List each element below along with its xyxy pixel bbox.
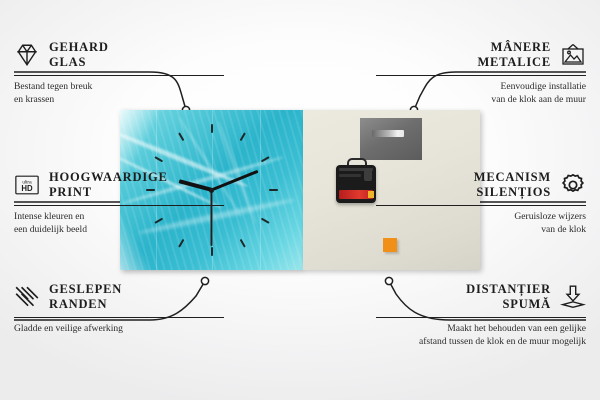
ultra-hd-icon: ultra HD [14, 172, 40, 198]
callout-desc-line2: een duidelijk beeld [14, 224, 87, 235]
callout-hoogwaardige-print: ultra HD HOOGWAARDIGE PRINT Intense kleu… [14, 170, 224, 236]
callout-distantier-spuma: DISTANȚIER SPUMĂ Maakt het behouden van … [376, 282, 586, 348]
callout-title-line1: MECANISM [474, 170, 551, 184]
callout-desc-line1: Eenvoudige installatie [500, 81, 586, 92]
callout-desc-line2: van de klok [541, 224, 586, 235]
callout-desc-line2: van de klok aan de muur [491, 94, 586, 105]
callout-title-line1: GEHARD [49, 40, 109, 54]
callout-mecanism-silentios: MECANISM SILENȚIOS Geruisloze wijzers va… [376, 170, 586, 236]
svg-text:HD: HD [21, 184, 33, 193]
foam-spacer [383, 238, 397, 252]
callout-title-line2: PRINT [49, 185, 92, 199]
callout-title-line1: HOOGWAARDIGE [49, 170, 168, 184]
callout-rule [14, 75, 224, 76]
callout-desc-line1: Intense kleuren en [14, 211, 84, 222]
callout-rule [14, 205, 224, 206]
callout-desc-line1: Bestand tegen breuk [14, 81, 92, 92]
picture-frame-icon [560, 42, 586, 68]
diamond-icon [14, 42, 40, 68]
spacer-arrow-icon [560, 284, 586, 310]
beveled-edges-icon [14, 284, 40, 310]
callout-desc-line1: Geruisloze wijzers [514, 211, 586, 222]
callout-rule [376, 205, 586, 206]
infographic-stage: GEHARD GLAS Bestand tegen breuk en krass… [0, 0, 600, 400]
callout-rule [14, 317, 224, 318]
callout-title-line1: MÂNERE [491, 40, 551, 54]
clock-mechanism [336, 165, 376, 203]
callout-rule [376, 317, 586, 318]
callout-title-line2: SPUMĂ [503, 297, 551, 311]
callout-desc-line2: en krassen [14, 94, 54, 105]
callout-title-line2: GLAS [49, 55, 86, 69]
callout-title-line1: DISTANȚIER [466, 282, 551, 296]
callout-desc-line2: afstand tussen de klok en de muur mogeli… [419, 336, 586, 347]
callout-geslepen-randen: GESLEPEN RANDEN Gladde en veilige afwerk… [14, 282, 224, 335]
callout-rule [376, 75, 586, 76]
callout-title-line1: GESLEPEN [49, 282, 122, 296]
callout-desc-line1: Gladde en veilige afwerking [14, 323, 123, 334]
callout-title-line2: METALICE [477, 55, 551, 69]
callout-title-line2: RANDEN [49, 297, 107, 311]
gear-icon [560, 172, 586, 198]
callout-title-line2: SILENȚIOS [476, 185, 551, 199]
callout-desc-line1: Maakt het behouden van een gelijke [447, 323, 586, 334]
metal-hanger [360, 118, 422, 160]
callout-manere-metalice: MÂNERE METALICE Eenvoudige installatie v… [376, 40, 586, 106]
callout-gehard-glas: GEHARD GLAS Bestand tegen breuk en krass… [14, 40, 224, 106]
